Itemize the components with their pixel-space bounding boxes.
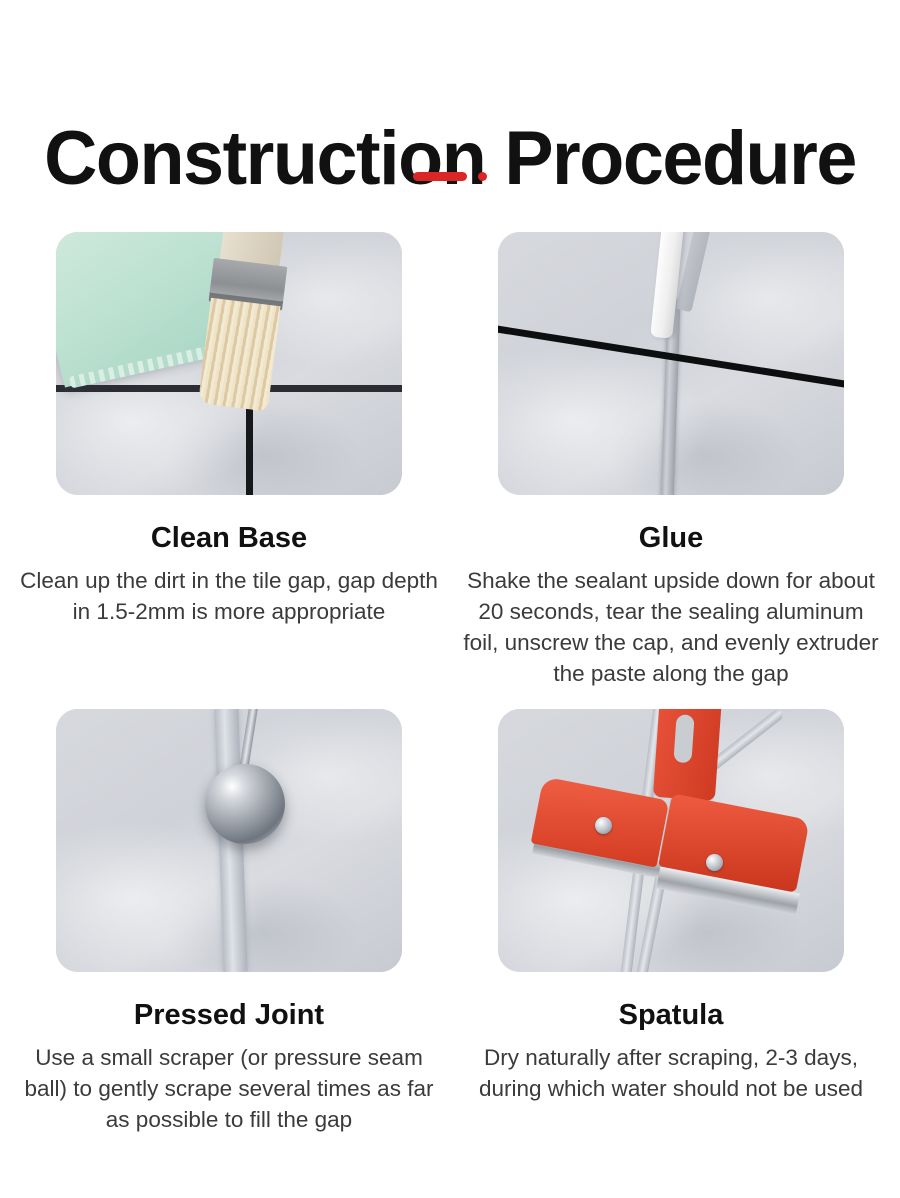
step-title: Clean Base: [151, 521, 307, 555]
scraper-screw: [706, 854, 723, 871]
accent-dot-icon: [478, 172, 487, 181]
step-description: Clean up the dirt in the tile gap, gap d…: [20, 565, 438, 627]
step-title: Glue: [639, 521, 703, 555]
steps-grid: Clean Base Clean up the dirt in the tile…: [20, 232, 880, 1135]
step-title: Pressed Joint: [134, 998, 324, 1032]
step-card-pressed-joint: Pressed Joint Use a small scraper (or pr…: [20, 709, 438, 1135]
scraper-screw: [595, 817, 612, 834]
step-title: Spatula: [619, 998, 724, 1032]
step-description: Use a small scraper (or pressure seam ba…: [20, 1042, 438, 1135]
page-title: Construction Procedure: [14, 119, 887, 199]
step-image-spatula: [498, 709, 844, 972]
step-card-spatula: Spatula Dry naturally after scraping, 2-…: [462, 709, 880, 1135]
step-description: Shake the sealant upside down for about …: [462, 565, 880, 689]
step-image-pressed-joint: [56, 709, 402, 972]
step-image-glue: [498, 232, 844, 495]
step-card-clean-base: Clean Base Clean up the dirt in the tile…: [20, 232, 438, 689]
brush-bristles: [198, 298, 280, 412]
scraper-handle: [653, 709, 723, 801]
accent-bar-icon: [413, 172, 467, 181]
step-card-glue: Glue Shake the sealant upside down for a…: [462, 232, 880, 689]
construction-procedure-page: Construction Procedure Clean Base Clean …: [0, 0, 900, 1198]
pressure-seam-ball: [205, 764, 285, 844]
step-image-clean-base: [56, 232, 402, 495]
title-accent-divider: [0, 172, 900, 181]
step-description: Dry naturally after scraping, 2-3 days, …: [462, 1042, 880, 1104]
